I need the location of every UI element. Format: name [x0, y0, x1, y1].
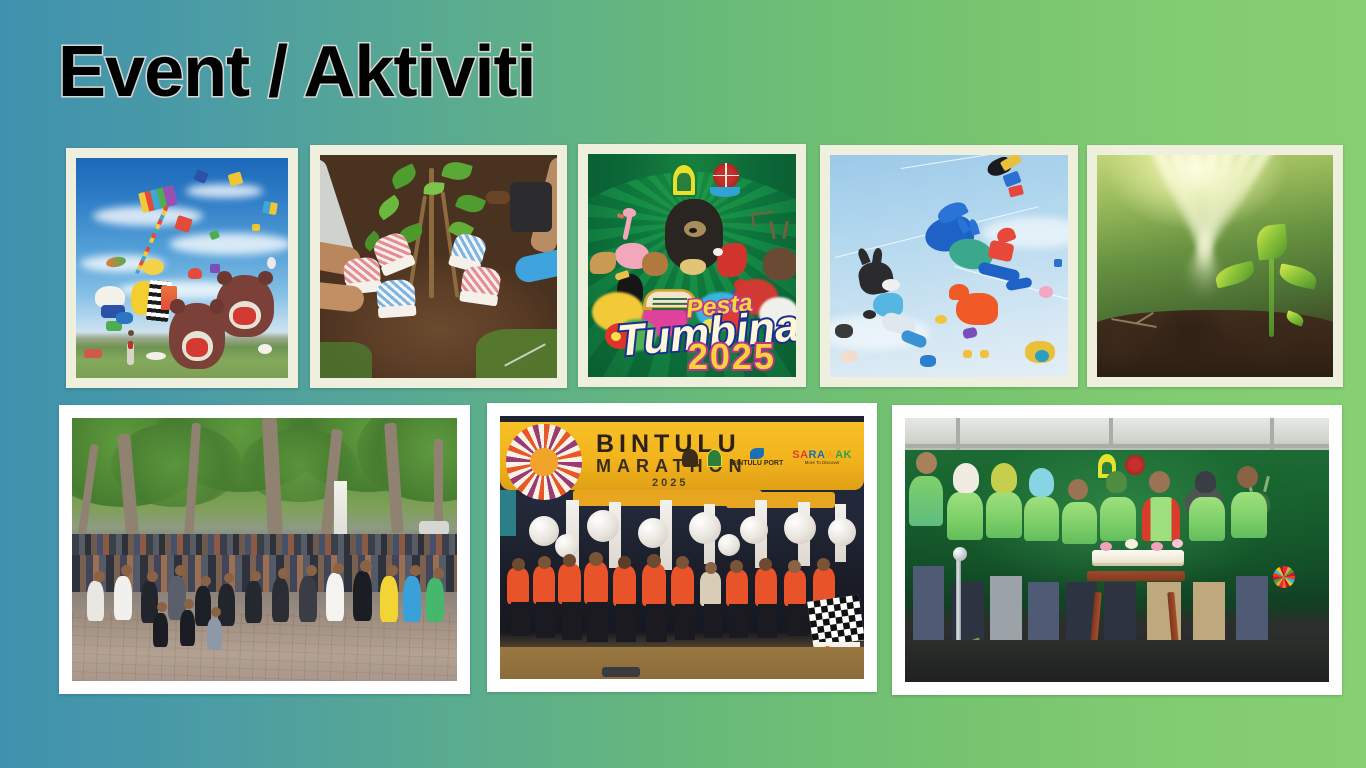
tile-kites-sky[interactable]	[820, 145, 1078, 387]
sdg-wheel-icon	[1273, 566, 1295, 588]
cake-table	[1087, 571, 1185, 581]
marathon-logo-icon	[506, 424, 582, 500]
balloon	[718, 534, 740, 556]
glove-right	[460, 264, 502, 299]
tile-bintulu-marathon[interactable]: BINTULU MARATHON 2025 BINTULU PORT SARAW…	[487, 403, 877, 692]
sponsor-sarawak-tagline: More To Discover	[805, 461, 840, 466]
glove-right-top	[449, 231, 487, 267]
photo-pesta-tumbina-poster: Pesta Tumbina 2025	[588, 154, 796, 377]
photo-kites-sky	[830, 155, 1068, 377]
paved-ground	[72, 613, 457, 681]
tile-cake-cutting[interactable]	[892, 405, 1342, 695]
marathon-start-arch: BINTULU MARATHON 2025 BINTULU PORT SARAW…	[500, 422, 864, 490]
sponsor-hornbill-icon	[682, 449, 698, 467]
council-crest-icon	[671, 163, 697, 197]
tile-park-crowd[interactable]	[59, 405, 470, 694]
sponsor-bintulu-port-label: BINTULU PORT	[731, 460, 783, 468]
sponsor-council-icon	[707, 449, 722, 467]
sprout-leaf-top	[1256, 224, 1289, 261]
mascot-kite-center	[169, 303, 225, 369]
marathon-year: 2025	[652, 477, 688, 489]
poster-word-year: 2025	[688, 339, 776, 375]
photo-park-crowd	[72, 418, 457, 681]
hijab	[953, 463, 979, 493]
hijab	[991, 463, 1017, 493]
sprout-leaf-right	[1277, 263, 1318, 289]
tile-seedling[interactable]	[1087, 145, 1343, 387]
photo-kite-festival	[76, 158, 288, 378]
balloon	[689, 512, 721, 544]
bintulu-marathon-artwork: BINTULU MARATHON 2025 BINTULU PORT SARAW…	[500, 416, 864, 679]
globe-logo-icon	[713, 163, 739, 189]
photo-tree-planting	[320, 155, 557, 378]
hijab	[1029, 468, 1054, 497]
glove-bottom-left	[376, 279, 416, 312]
photo-cake-cutting	[905, 418, 1329, 682]
seedling-artwork	[1097, 155, 1333, 377]
page-title: Event / Aktiviti	[58, 36, 535, 108]
photo-seedling	[1097, 155, 1333, 377]
tile-pesta-tumbina-poster[interactable]: Pesta Tumbina 2025	[578, 144, 806, 387]
cake-cutting-artwork	[905, 418, 1329, 682]
mascot-kite-right	[216, 275, 274, 337]
kite-festival-artwork	[76, 158, 288, 378]
glove-left	[342, 256, 381, 288]
park-crowd-artwork	[72, 418, 457, 681]
marathon-sponsors: BINTULU PORT SARAWAK More To Discover	[682, 448, 852, 468]
tree-planting-artwork	[320, 155, 557, 378]
balloon	[828, 518, 856, 546]
balloon	[784, 512, 816, 544]
kites-sky-artwork	[830, 155, 1068, 377]
sponsor-bintulu-port-icon	[750, 448, 764, 459]
checkered-flag	[807, 595, 864, 648]
tile-tree-planting[interactable]	[310, 145, 567, 388]
ceremonial-cake	[1092, 550, 1184, 566]
pesta-tumbina-artwork: Pesta Tumbina 2025	[588, 154, 796, 377]
photo-bintulu-marathon: BINTULU MARATHON 2025 BINTULU PORT SARAW…	[500, 416, 864, 679]
tile-kite-festival[interactable]	[66, 148, 298, 388]
slide-canvas: Event / Aktiviti	[0, 0, 1366, 768]
